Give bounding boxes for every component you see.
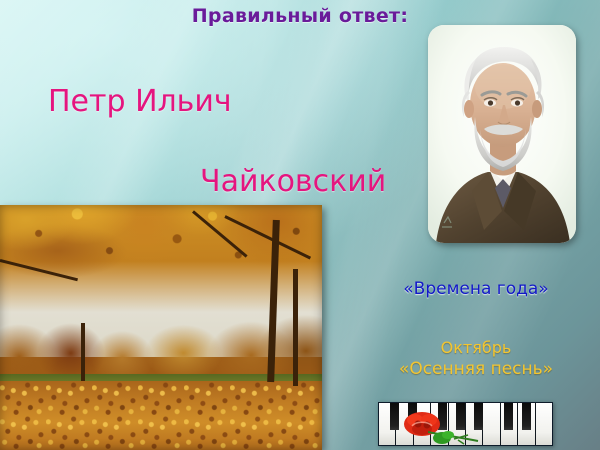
composer-last-name: Чайковский xyxy=(200,164,386,199)
portrait-illustration xyxy=(428,25,576,243)
photo-tree-trunk xyxy=(81,323,85,382)
piano-black-key xyxy=(474,403,483,430)
photo-tree-trunk xyxy=(293,269,298,387)
piano-black-key xyxy=(522,403,531,430)
piano-black-key xyxy=(390,403,399,430)
piano-white-key xyxy=(536,403,552,445)
piano-black-key xyxy=(456,403,465,430)
presentation-slide: Правильный ответ: Петр Ильич Чайковский xyxy=(0,0,600,450)
piano-white-key xyxy=(483,403,500,445)
composer-first-name: Петр Ильич xyxy=(48,84,232,119)
page-title: Правильный ответ: xyxy=(0,5,600,27)
autumn-park-photo xyxy=(0,205,322,450)
caption-cycle-title: «Времена года» xyxy=(360,279,592,299)
portrait-tchaikovsky xyxy=(428,25,576,243)
piano-black-key xyxy=(504,403,513,430)
rose-stem-icon xyxy=(428,429,480,445)
photo-fallen-leaves xyxy=(0,381,322,450)
piano-keyboard-with-rose xyxy=(378,402,553,446)
caption-piece-title: «Осенняя песнь» xyxy=(356,359,596,379)
caption-month: Октябрь xyxy=(356,338,596,357)
